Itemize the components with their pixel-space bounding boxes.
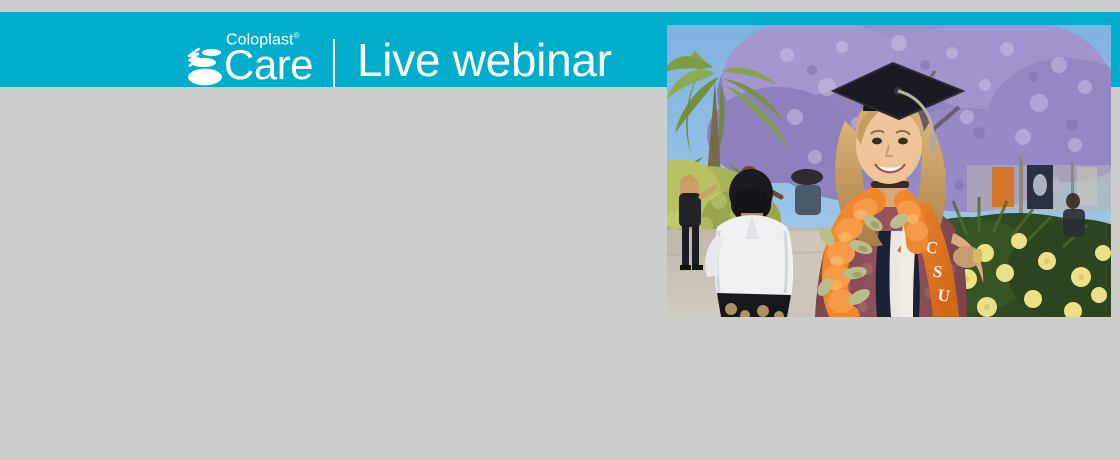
svg-text:U: U xyxy=(936,285,951,306)
vertical-divider-icon xyxy=(333,39,335,87)
logo-product-text: Care xyxy=(224,44,313,86)
banner-headline: Live webinar xyxy=(357,32,612,87)
coloplast-care-logo[interactable]: Coloplast® Care xyxy=(186,32,314,87)
page-root: Coloplast® Care Live webinar xyxy=(0,0,1120,460)
graduation-photo: C S U xyxy=(667,25,1111,317)
registered-trademark-icon: ® xyxy=(294,31,300,40)
coloplast-pebbles-logo-mark-icon xyxy=(186,46,228,87)
